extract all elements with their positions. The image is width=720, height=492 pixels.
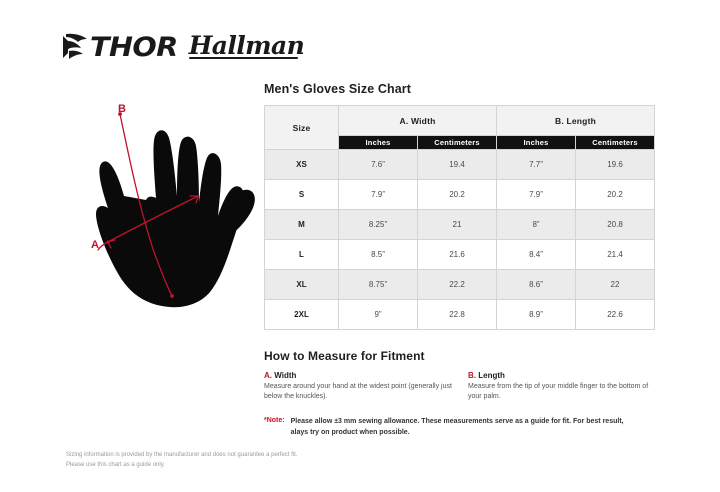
cell-width-inches: 8.5” xyxy=(339,240,418,270)
cell-width-centimeters: 20.2 xyxy=(418,180,497,210)
column-header-size: Size xyxy=(265,106,339,150)
footer-line-2: Please use this chart as a guide only. xyxy=(66,460,366,470)
cell-width-centimeters: 21 xyxy=(418,210,497,240)
measure-item-heading: B. Length xyxy=(468,371,656,380)
size-chart-table: Size A. Width B. Length Inches Centimete… xyxy=(264,105,655,330)
note-block: *Note: Please allow ±3 mm sewing allowan… xyxy=(264,417,656,438)
cell-length-centimeters: 22 xyxy=(576,270,655,300)
measure-item-text: Measure from the tip of your middle fing… xyxy=(468,382,656,402)
measure-item-heading: A. Width xyxy=(264,371,452,380)
column-header-length-centimeters: Centimeters xyxy=(576,136,655,150)
chart-column: Men's Gloves Size Chart Size A. Width B.… xyxy=(264,82,656,438)
cell-width-centimeters: 19.4 xyxy=(418,150,497,180)
hallman-wordmark: Hallman xyxy=(189,31,304,60)
cell-width-inches: 8.25” xyxy=(339,210,418,240)
cell-size: L xyxy=(265,240,339,270)
how-to-measure-columns: A. Width Measure around your hand at the… xyxy=(264,371,656,402)
measure-item-text: Measure around your hand at the widest p… xyxy=(264,382,452,402)
measure-item-letter: A. xyxy=(264,371,272,380)
footer-disclaimer: Sizing information is provided by the ma… xyxy=(66,450,366,470)
cell-width-inches: 7.9” xyxy=(339,180,418,210)
thor-helmet-arrow-icon xyxy=(62,32,88,62)
cell-width-inches: 9” xyxy=(339,300,418,330)
table-row: XS 7.6” 19.4 7.7” 19.6 xyxy=(265,150,655,180)
measure-item-length: B. Length Measure from the tip of your m… xyxy=(468,371,656,402)
column-header-width-centimeters: Centimeters xyxy=(418,136,497,150)
table-group-header-row: Size A. Width B. Length xyxy=(265,106,655,136)
cell-length-inches: 7.7” xyxy=(497,150,576,180)
cell-length-centimeters: 20.2 xyxy=(576,180,655,210)
cell-size: 2XL xyxy=(265,300,339,330)
note-text: Please allow ±3 mm sewing allowance. The… xyxy=(291,417,643,438)
cell-width-inches: 8.75” xyxy=(339,270,418,300)
cell-length-inches: 8.4” xyxy=(497,240,576,270)
cell-width-inches: 7.6” xyxy=(339,150,418,180)
hand-measurement-diagram: A B xyxy=(58,92,268,317)
how-to-measure-title: How to Measure for Fitment xyxy=(264,349,656,363)
cell-size: XL xyxy=(265,270,339,300)
cell-length-inches: 7.9” xyxy=(497,180,576,210)
table-row: S 7.9” 20.2 7.9” 20.2 xyxy=(265,180,655,210)
thor-logo: THOR xyxy=(62,32,173,62)
note-label: *Note: xyxy=(264,417,285,438)
cell-size: XS xyxy=(265,150,339,180)
cell-length-inches: 8.9” xyxy=(497,300,576,330)
table-body: XS 7.6” 19.4 7.7” 19.6 S 7.9” 20.2 7.9” … xyxy=(265,150,655,330)
measure-item-name: Length xyxy=(478,371,505,380)
cell-size: S xyxy=(265,180,339,210)
footer-line-1: Sizing information is provided by the ma… xyxy=(66,450,366,460)
brand-lockup: THOR Hallman xyxy=(62,32,304,62)
measure-item-letter: B. xyxy=(468,371,476,380)
cell-width-centimeters: 22.2 xyxy=(418,270,497,300)
column-header-width-inches: Inches xyxy=(339,136,418,150)
hand-glove-silhouette-icon xyxy=(58,92,268,317)
cell-length-inches: 8” xyxy=(497,210,576,240)
size-chart-page: THOR Hallman A B Men's Gloves xyxy=(0,0,720,492)
table-head: Size A. Width B. Length Inches Centimete… xyxy=(265,106,655,150)
diagram-label-b: B xyxy=(118,103,126,115)
table-row: M 8.25” 21 8” 20.8 xyxy=(265,210,655,240)
cell-length-centimeters: 19.6 xyxy=(576,150,655,180)
column-group-width: A. Width xyxy=(339,106,497,136)
column-group-length: B. Length xyxy=(497,106,655,136)
table-row: XL 8.75” 22.2 8.6” 22 xyxy=(265,270,655,300)
cell-width-centimeters: 21.6 xyxy=(418,240,497,270)
cell-size: M xyxy=(265,210,339,240)
table-row: L 8.5” 21.6 8.4” 21.4 xyxy=(265,240,655,270)
diagram-label-a: A xyxy=(91,239,99,251)
cell-length-centimeters: 20.8 xyxy=(576,210,655,240)
thor-wordmark: THOR xyxy=(90,34,178,61)
measure-item-width: A. Width Measure around your hand at the… xyxy=(264,371,452,402)
measure-item-name: Width xyxy=(274,371,296,380)
page-title: Men's Gloves Size Chart xyxy=(264,82,656,96)
cell-length-centimeters: 21.4 xyxy=(576,240,655,270)
table-row: 2XL 9” 22.8 8.9” 22.6 xyxy=(265,300,655,330)
cell-length-centimeters: 22.6 xyxy=(576,300,655,330)
hallman-underline xyxy=(189,57,298,59)
cell-width-centimeters: 22.8 xyxy=(418,300,497,330)
cell-length-inches: 8.6” xyxy=(497,270,576,300)
column-header-length-inches: Inches xyxy=(497,136,576,150)
